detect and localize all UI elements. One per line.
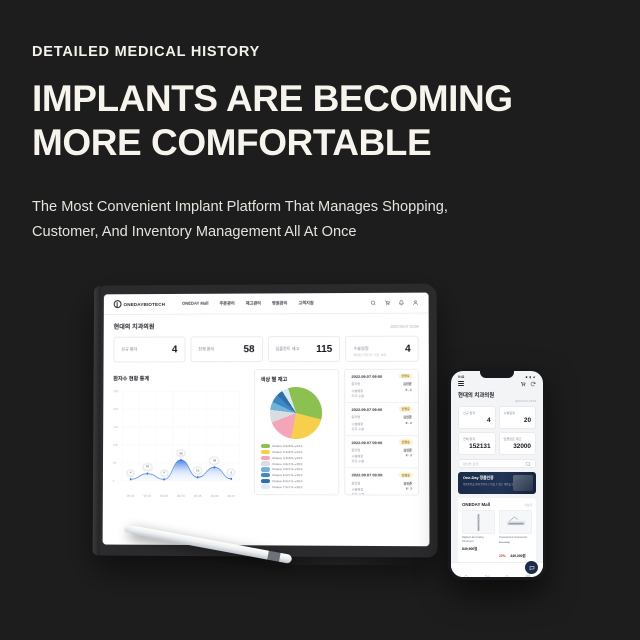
implant-screw-icon (476, 514, 481, 531)
hero-subcopy: The Most Convenient Implant Platform Tha… (32, 195, 592, 245)
cart-icon[interactable] (484, 567, 490, 573)
data-point-label: 20 (143, 463, 153, 470)
hero-section: DETAILED MEDICAL HISTORY IMPLANTS ARE BE… (32, 44, 592, 245)
data-point-label: 10 (193, 467, 203, 474)
x-axis-tick: 09.07 (227, 494, 235, 498)
legend-label: Fixture 7.0x7.0~v10.0 (272, 485, 302, 489)
legend-label: Fixture 6.0x7.0~v10.0 (272, 479, 302, 483)
item-row: 환자명 김민준 (352, 480, 412, 485)
stat-label: 임플란트 재고 (276, 346, 300, 352)
legend-label: Fixture 3.0x8.5~v13.0 (273, 444, 303, 448)
product-price-row: 20% 449,000원 (499, 544, 532, 562)
legend-swatch (261, 450, 270, 454)
stat-value: 4 (463, 417, 491, 424)
y-axis-tick: 150 (113, 425, 118, 429)
schedule-list-panel[interactable]: 2022.09.07 09:00 진행중 환자명 김민준 수술예정 지각·수량 … (344, 369, 419, 496)
item-row: 수술예정 지각·수량 8 · 2 (352, 486, 412, 495)
data-point-label: 58 (176, 450, 186, 457)
schedule-list-item[interactable]: 2022.09.07 09:00 진행중 환자명 김민준 수술예정 지각·수량 … (346, 469, 419, 496)
product-price: 849,900원 (462, 546, 495, 551)
nav-items: ONEDAY Mall 주문관리 재고관리 병원관리 고객지원 (182, 300, 314, 307)
phone-stat-grid: 신규 환자 4 수술일정 20 전체 환자 152131 임플란트 재고 320… (451, 403, 543, 455)
search-placeholder: 환자명 검색 (463, 461, 478, 466)
legend-label: Fixture 3.3x8.5~v13.0 (273, 450, 303, 454)
legend-swatch (260, 485, 269, 489)
item-value: 김민준 (403, 381, 412, 386)
nav-item-inventory[interactable]: 재고관리 (246, 300, 261, 306)
subcopy-line-2: Customer, And Inventory Management All A… (32, 220, 592, 245)
phone-clinic-name: 현대의 치과의원 (451, 391, 543, 399)
phone-search-bar[interactable]: 환자명 검색 (458, 459, 536, 468)
item-value: 김민준 (403, 447, 412, 452)
item-key: 환자명 (351, 381, 365, 386)
y-axis-tick: 250 (113, 389, 118, 393)
stat-label: 신규 환자 (463, 410, 491, 415)
phone-notch (480, 371, 514, 378)
stock-by-color-panel: 색상 별 재고 Fixture 3.0x8.5~v13.0Fixture 3.3… (253, 369, 339, 495)
y-axis-tick: 200 (113, 407, 118, 411)
stat-label: 신규 환자 (121, 347, 137, 353)
stat-value: 58 (244, 344, 255, 355)
x-axis-tick: 09.02 (143, 494, 151, 498)
item-value: 8 · 2 (406, 421, 412, 431)
pie-area: Fixture 3.0x8.5~v13.0Fixture 3.3x8.5~v13… (260, 387, 332, 489)
dashboard-navbar: ONEDAYBIOTECH ONEDAY Mall 주문관리 재고관리 병원관리… (104, 293, 429, 315)
legend-item: Fixture 3.3x8.5~v13.0 (261, 450, 333, 455)
cart-icon[interactable] (384, 300, 390, 306)
item-row: 환자명 김민준 (352, 447, 412, 452)
item-row: 환자명 김민준 (351, 381, 411, 386)
legend-item: Fixture 7.0x7.0~v10.0 (260, 485, 332, 490)
tablet-screen: ONEDAYBIOTECH ONEDAY Mall 주문관리 재고관리 병원관리… (103, 293, 430, 547)
item-key: 환자명 (352, 447, 366, 452)
legend-item: Fixture 4.0x7.0~v15.0 (261, 461, 333, 466)
legend-item: Fixture 5.0x7.0~v15.0 (260, 473, 332, 478)
product-discount: 20% (499, 554, 506, 558)
phone-tab-bar (451, 562, 543, 577)
phone-screen: 9:41 ■ ▮ ▰ 현대의 치과의원 2022.09.07 23:59 신규 … (451, 371, 543, 577)
headline-line-1: IMPLANTS ARE BECOMING (32, 77, 592, 121)
legend-swatch (261, 456, 270, 460)
dashboard-header: 현대의 치과의원 2022.09.07 23:59 (114, 321, 419, 331)
chart-title: 환자수 현황 통계 (113, 375, 242, 382)
subcopy-line-1: The Most Convenient Implant Platform Tha… (32, 195, 592, 220)
schedule-list-item[interactable]: 2022.09.07 09:00 진행중 환자명 김민준 수술예정 지각·수량 … (346, 436, 419, 469)
stat-card-row: 신규 환자 4 전체 환자 58 임플란트 재고 115 수술일정 9월 평균 … (113, 336, 418, 363)
item-key: 수술예정 지각·수량 (352, 421, 366, 431)
slide-root: DETAILED MEDICAL HISTORY IMPLANTS ARE BE… (0, 0, 640, 640)
stat-value: 20 (504, 417, 532, 424)
product-card[interactable]: Digital Lab Analog Abutment 849,900원 (462, 510, 495, 562)
nav-item-support[interactable]: 고객지원 (298, 300, 313, 306)
impression-tray-icon (506, 516, 526, 528)
mall-header: ONEDAY Mall 더보기 (462, 502, 532, 507)
legend-item: Fixture 3.3x8.5~v13.0 (261, 456, 333, 461)
item-key: 환자명 (352, 414, 366, 419)
phone-nav-icons (520, 381, 536, 387)
dashboard-body: 현대의 치과의원 2022.09.07 23:59 신규 환자 4 전체 환자 … (103, 314, 430, 547)
menu-icon[interactable] (458, 381, 464, 388)
tablet-device: ONEDAYBIOTECH ONEDAY Mall 주문관리 재고관리 병원관리… (93, 284, 438, 558)
hero-eyebrow: DETAILED MEDICAL HISTORY (32, 44, 592, 61)
schedule-list-item[interactable]: 2022.09.07 09:00 진행중 환자명 김민준 수술예정 지각·수량 … (345, 370, 417, 403)
pie-chart-title: 색상 별 재고 (261, 376, 333, 383)
item-value: 8 · 2 (406, 454, 412, 464)
stat-label: 수술일정 (504, 410, 532, 415)
legend-label: Fixture 3.3x8.5~v13.0 (273, 456, 303, 460)
search-icon[interactable] (525, 461, 531, 467)
mall-more-link[interactable]: 더보기 (525, 503, 532, 507)
x-axis-tick: 09.06 (211, 494, 219, 498)
status-time: 9:41 (458, 375, 464, 379)
stat-value: 4 (172, 344, 178, 355)
logo-mark-icon (114, 300, 122, 308)
x-axis-tick: 09.03 (160, 494, 168, 498)
legend-swatch (260, 473, 269, 477)
legend-label: Fixture 5.0x7.0~v15.0 (273, 473, 303, 477)
legend-item: Fixture 3.0x8.5~v13.0 (261, 444, 333, 448)
nav-icon-group (370, 300, 418, 306)
stat-label: 전체 환자 (198, 346, 214, 352)
legend-item: Fixture 6.0x7.0~v10.0 (260, 479, 332, 484)
status-badge: 진행중 (399, 472, 413, 478)
stat-label: 수술일정 (353, 346, 368, 352)
item-row: 수술예정 지각·수량 8 · 2 (352, 453, 412, 463)
y-axis-tick: 100 (113, 443, 118, 447)
headline-line-2: MORE COMFORTABLE (32, 121, 592, 165)
nav-item-clinic[interactable]: 병원관리 (272, 300, 287, 306)
search-icon[interactable] (370, 300, 376, 306)
nav-item-orders[interactable]: 주문관리 (219, 301, 234, 307)
mall-title: ONEDAY Mall (462, 502, 490, 507)
stat-card-total-patients[interactable]: 전체 환자 58 (190, 336, 262, 362)
legend-swatch (260, 479, 269, 483)
promo-banner[interactable]: One-Day 정품인증 정품인증을 통해 안전하고 믿을 수 있는 제품을 만… (458, 472, 536, 494)
item-row: 환자명 김민준 (352, 414, 412, 419)
chat-icon (529, 565, 535, 571)
page-title: IMPLANTS ARE BECOMING MORE COMFORTABLE (32, 77, 592, 164)
mall-section: ONEDAY Mall 더보기 Digital Lab Analog Abutm… (458, 498, 536, 567)
legend-label: Fixture 4.5x7.0~v15.0 (273, 467, 303, 471)
item-row: 수술예정 지각·수량 8 · 2 (351, 388, 411, 398)
item-key: 수술예정 지각·수량 (352, 453, 366, 463)
legend-item: Fixture 4.5x7.0~v15.0 (260, 467, 332, 472)
stat-value: 115 (316, 343, 332, 354)
item-row: 수술예정 지각·수량 8 · 2 (352, 421, 412, 431)
item-value: 김민준 (403, 480, 412, 485)
panel-row: 환자수 현황 통계 05010015020025009.0109.0209.03… (113, 369, 419, 496)
item-value: 8 · 2 (405, 388, 411, 398)
legend-label: Fixture 4.0x7.0~v15.0 (273, 462, 303, 466)
home-icon[interactable] (463, 567, 469, 573)
legend-swatch (261, 444, 270, 448)
bell-icon[interactable] (398, 300, 404, 306)
data-point-label: 38 (210, 457, 220, 464)
phone-stat-total-patients[interactable]: 전체 환자 152131 (458, 432, 496, 455)
item-key: 환자명 (352, 480, 366, 485)
product-grid: Digital Lab Analog Abutment 849,900원 Tra… (462, 510, 532, 562)
stat-card-new-patients[interactable]: 신규 환자 4 (113, 336, 185, 362)
phone-navbar (451, 380, 543, 391)
item-key: 수술예정 지각·수량 (351, 388, 365, 398)
user-icon[interactable] (412, 300, 418, 306)
stat-value: 32000 (504, 443, 532, 450)
product-price: 449,000원 (510, 554, 525, 558)
item-key: 수술예정 지각·수량 (352, 486, 366, 495)
item-value: 8 · 2 (406, 487, 412, 496)
schedule-list-item[interactable]: 2022.09.07 09:00 진행중 환자명 김민준 수술예정 지각·수량 … (345, 403, 417, 436)
stat-sublabel: 9월 평균 임플란트 수량 : 80개 (353, 353, 386, 357)
product-thumbnail (462, 510, 495, 534)
pie-legend: Fixture 3.0x8.5~v13.0Fixture 3.3x8.5~v13… (260, 444, 332, 489)
x-axis-tick: 09.04 (177, 494, 185, 498)
phone-stat-implant-stock[interactable]: 임플란트 재고 32000 (499, 432, 537, 455)
status-badge: 진행중 (398, 439, 412, 445)
nav-item-mall[interactable]: ONEDAY Mall (182, 301, 209, 307)
last-updated: 2022.09.07 23:59 (390, 325, 418, 329)
stat-card-implant-stock[interactable]: 임플란트 재고 115 (268, 336, 341, 362)
brand-name: ONEDAYBIOTECH (123, 301, 165, 306)
banner-product-image (513, 475, 533, 491)
stat-value: 152131 (463, 443, 491, 450)
product-thumbnail (499, 510, 532, 534)
brand-logo[interactable]: ONEDAYBIOTECH (114, 300, 166, 308)
chat-fab-button[interactable] (525, 561, 538, 574)
legend-swatch (260, 467, 269, 471)
stat-label: 임플란트 재고 (504, 436, 532, 441)
patient-area-chart[interactable]: 05010015020025009.0109.0209.0309.0409.05… (113, 387, 243, 491)
cart-icon[interactable] (520, 381, 526, 387)
stat-card-surgery-schedule[interactable]: 수술일정 9월 평균 임플란트 수량 : 80개 4 (345, 336, 418, 362)
status-badge: 진행중 (398, 406, 412, 412)
phone-stat-new-patients[interactable]: 신규 환자 4 (458, 406, 496, 429)
stat-value: 4 (405, 343, 411, 354)
x-axis-tick: 09.01 (127, 494, 135, 498)
status-badge: 진행중 (398, 373, 412, 379)
status-indicators: ■ ▮ ▰ (526, 375, 536, 379)
heart-icon[interactable] (504, 567, 510, 573)
clinic-name: 현대의 치과의원 (114, 322, 155, 331)
stock-pie-chart[interactable] (270, 387, 322, 439)
product-card[interactable]: Transparent Impression 561,000원 20% 449,… (499, 510, 532, 562)
refresh-icon[interactable] (530, 381, 536, 387)
stat-label: 전체 환자 (463, 436, 491, 441)
item-value: 김민준 (403, 414, 412, 419)
phone-stat-surgery[interactable]: 수술일정 20 (499, 406, 537, 429)
y-axis-tick: 0 (113, 479, 115, 483)
legend-swatch (261, 461, 270, 465)
y-axis-tick: 50 (113, 461, 116, 465)
phone-device: 9:41 ■ ▮ ▰ 현대의 치과의원 2022.09.07 23:59 신규 … (448, 368, 546, 580)
x-axis-tick: 09.05 (194, 494, 202, 498)
product-name: Digital Lab Analog Abutment (462, 536, 495, 544)
patient-trend-panel: 환자수 현황 통계 05010015020025009.0109.0209.03… (113, 369, 249, 495)
